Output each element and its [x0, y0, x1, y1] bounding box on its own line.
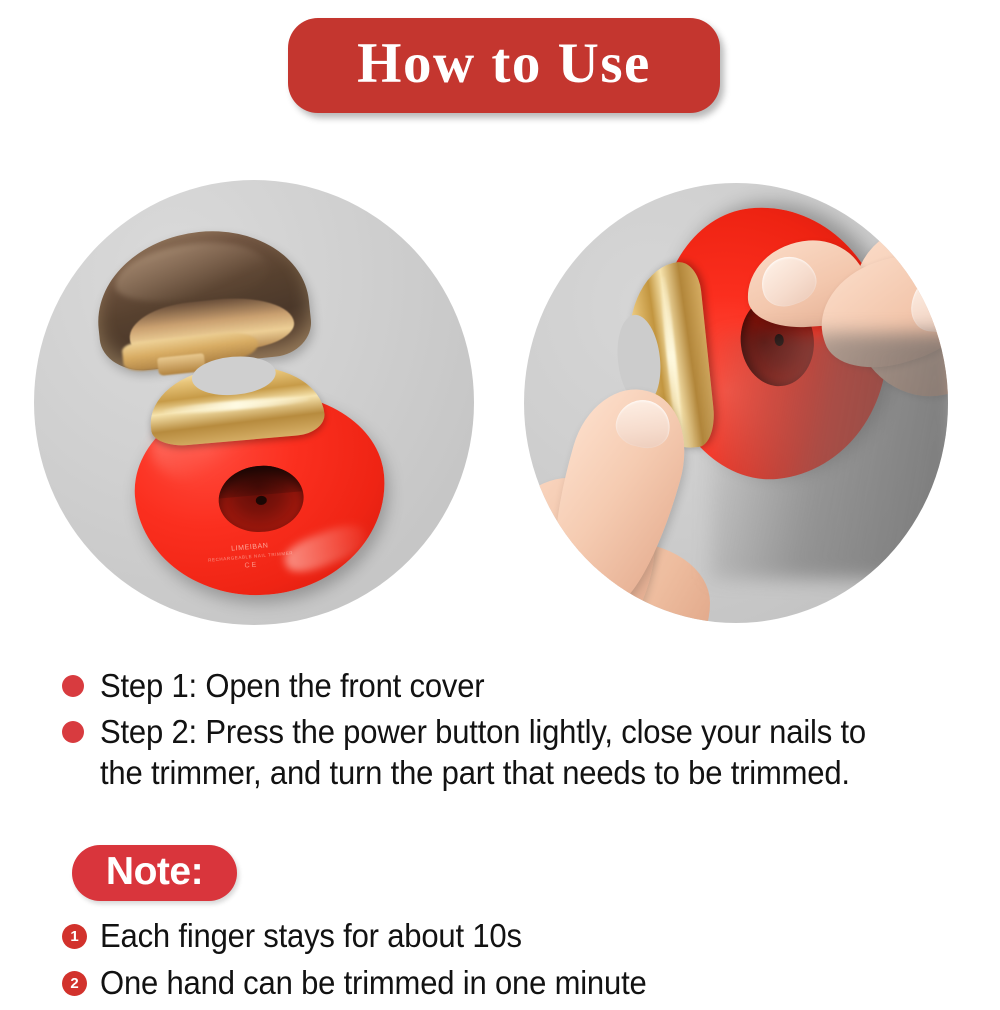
bullet-icon [62, 675, 84, 697]
product-photo-open-cover: LIMEIBAN RECHARGEABLE NAIL TRIMMER CE [34, 180, 474, 625]
device-brand-label: LIMEIBAN RECHARGEABLE NAIL TRIMMER CE [207, 540, 294, 575]
fingernail [755, 250, 823, 314]
list-item: Step 2: Press the power button lightly, … [62, 711, 952, 794]
trimmer-center-dot [255, 496, 267, 506]
fingernail [612, 395, 674, 452]
note-badge: Note: [72, 845, 237, 901]
steps-list: Step 1: Open the front cover Step 2: Pre… [62, 665, 952, 798]
photo-shadow [710, 333, 948, 579]
header-banner: How to Use [288, 18, 720, 113]
trimmer-aperture [215, 462, 305, 536]
device-gold-rim [146, 359, 326, 448]
note-text: One hand can be trimmed in one minute [100, 962, 647, 1003]
photo-section: LIMEIBAN RECHARGEABLE NAIL TRIMMER CE [0, 150, 1000, 660]
list-item: Step 1: Open the front cover [62, 665, 952, 707]
note-badge-label: Note: [106, 852, 203, 894]
fingernail [910, 276, 948, 333]
list-item: 2 One hand can be trimmed in one minute [62, 962, 952, 1003]
header-section: How to Use [0, 0, 1000, 140]
page-title: How to Use [357, 35, 651, 96]
detached-cover-lid [90, 221, 315, 374]
nail-trimmer-device: LIMEIBAN RECHARGEABLE NAIL TRIMMER CE [124, 355, 393, 606]
note-number-icon: 2 [62, 971, 87, 996]
product-photo-in-hand [524, 183, 948, 623]
note-number-icon: 1 [62, 924, 87, 949]
bullet-icon [62, 721, 84, 743]
note-list: 1 Each finger stays for about 10s 2 One … [62, 915, 952, 1010]
device-gloss-highlight-secondary [280, 519, 371, 580]
list-item: 1 Each finger stays for about 10s [62, 915, 952, 956]
note-text: Each finger stays for about 10s [100, 915, 522, 956]
step-text: Step 1: Open the front cover [100, 665, 484, 707]
step-text: Step 2: Press the power button lightly, … [100, 711, 901, 794]
